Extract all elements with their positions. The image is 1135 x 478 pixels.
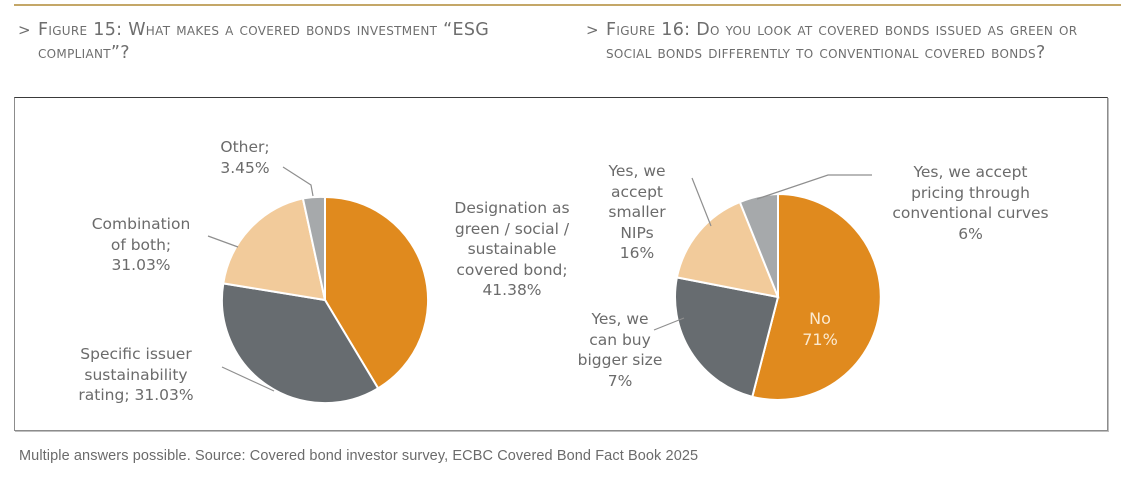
pie15-label-designation: Designation as green / social / sustaina…: [432, 198, 592, 301]
pie15-label-specific: Specific issuer sustainability rating; 3…: [50, 344, 222, 406]
pie15-label-other: Other; 3.45%: [186, 137, 304, 178]
pie16-label-bigger-size: Yes, we can buy bigger size 7%: [560, 309, 680, 391]
pie16-label-smaller-nips: Yes, we accept smaller NIPs 16%: [581, 161, 693, 264]
source-footnote: Multiple answers possible. Source: Cover…: [19, 448, 698, 464]
pie15-label-combination: Combination of both; 31.03%: [66, 214, 216, 276]
pie16-label-pricing-curves: Yes, we accept pricing through conventio…: [877, 162, 1064, 244]
pie16-label-no: No 71%: [784, 308, 856, 350]
leader-line-smaller-nips: [692, 178, 711, 226]
